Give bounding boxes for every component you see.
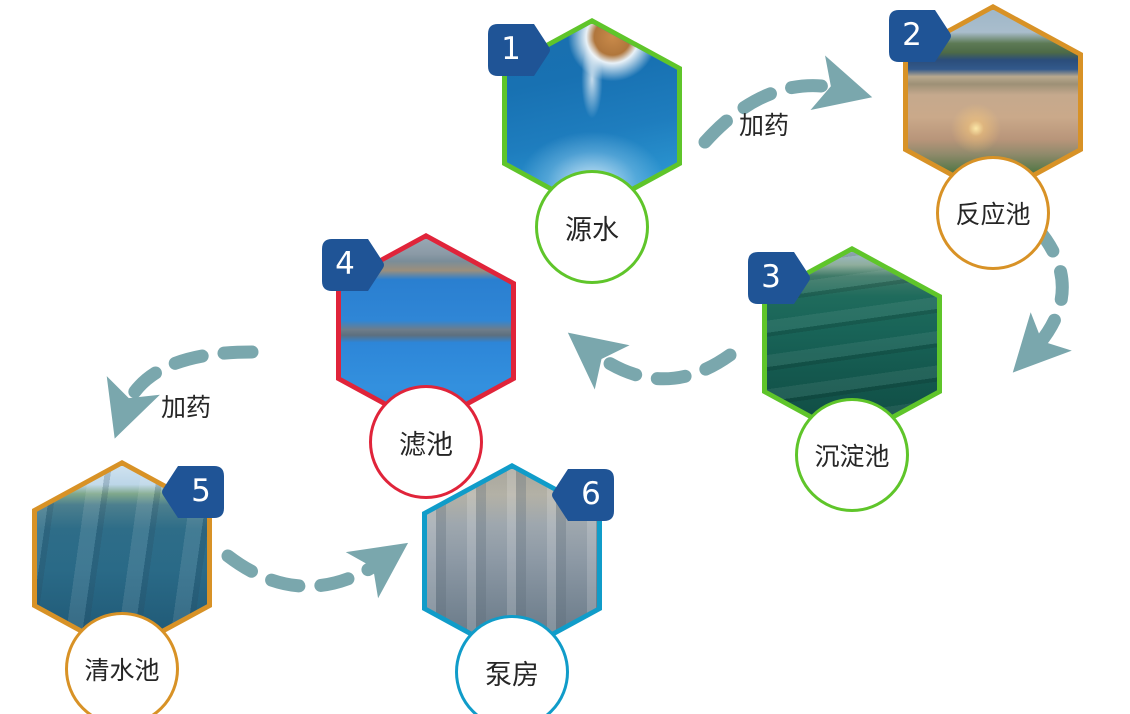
step-label-text: 滤池 [399,423,453,462]
process-step-5[interactable]: 5清水池 [22,460,222,714]
badge-number-text: 6 [568,469,614,521]
step-label-text: 源水 [565,208,619,247]
step-label-text: 沉淀池 [814,437,889,473]
step-number-badge-3: 3 [748,252,810,304]
step-label-text: 泵房 [485,653,539,692]
arrow-sedimentation-to-filter [590,350,730,379]
arrow-clearwater-to-pumphouse [228,556,385,586]
process-step-2[interactable]: 2反应池 [893,4,1093,264]
badge-number-text: 5 [178,466,224,518]
step-number-badge-5: 5 [162,466,224,518]
step-label-circle-4[interactable]: 滤池 [369,385,483,499]
step-number-badge-6: 6 [552,469,614,521]
badge-number-text: 4 [322,239,368,291]
process-flow-diagram: 加药 加药 1源水2反应池3沉淀池4滤池5清水池6泵房 [0,0,1130,714]
step-label-circle-1[interactable]: 源水 [535,170,649,284]
process-step-3[interactable]: 3沉淀池 [752,246,952,506]
arrow-label-dosing-2: 加药 [161,388,211,424]
step-label-text: 反应池 [955,195,1030,231]
step-number-badge-4: 4 [322,239,384,291]
step-number-badge-1: 1 [488,24,550,76]
step-label-text: 清水池 [84,651,159,687]
badge-number-text: 3 [748,252,794,304]
step-label-circle-2[interactable]: 反应池 [936,156,1050,270]
step-number-badge-2: 2 [889,10,951,62]
badge-number-text: 1 [488,24,534,76]
step-label-circle-3[interactable]: 沉淀池 [795,398,909,512]
process-step-6[interactable]: 6泵房 [412,463,612,714]
arrow-label-dosing-1: 加药 [739,106,789,142]
badge-number-text: 2 [889,10,935,62]
step-label-circle-5[interactable]: 清水池 [65,612,179,714]
process-step-4[interactable]: 4滤池 [326,233,526,493]
